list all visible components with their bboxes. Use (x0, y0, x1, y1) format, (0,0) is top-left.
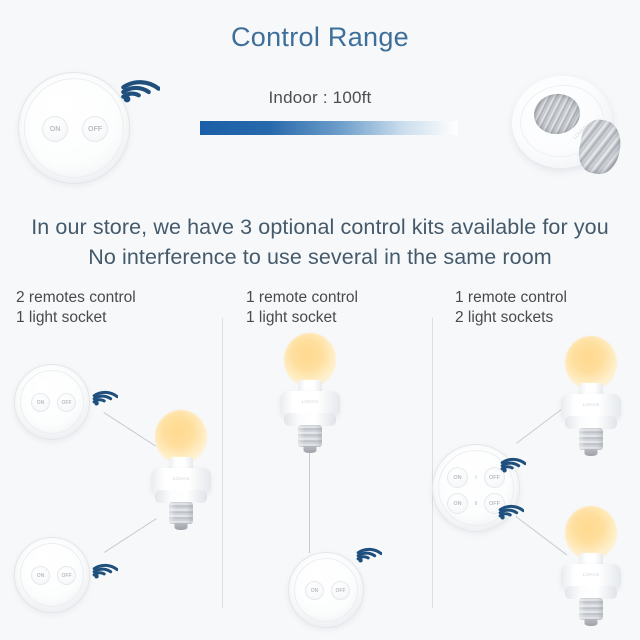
wifi-signal-icon (356, 540, 382, 565)
light-bulb-icon (284, 333, 336, 387)
light-bulb-icon (565, 506, 617, 560)
socket-tip (304, 446, 317, 453)
socket-brand: LOHAS (173, 476, 190, 481)
remote-on-button[interactable]: ON (31, 566, 50, 585)
headline-line-1: In our store, we have 3 optional control… (0, 212, 640, 242)
remote-on-button[interactable]: ON (31, 393, 50, 412)
remote-on-button[interactable]: ON (305, 581, 324, 600)
remote-off-button[interactable]: OFF (82, 116, 108, 142)
light-bulb-socket-unit: LOHAS (553, 506, 629, 638)
light-socket-icon-hero: LOHAS (510, 68, 630, 186)
page-title: Control Range (0, 22, 640, 53)
column-label-3: 1 remote control 2 light sockets (455, 288, 567, 328)
remote-off-button[interactable]: OFF (57, 393, 76, 412)
socket-tip (585, 449, 598, 456)
headline-line-2: No interference to use several in the sa… (0, 242, 640, 272)
column-divider-1 (222, 318, 223, 608)
column1-remote-top[interactable]: ON OFF (14, 364, 90, 440)
remote-off-button[interactable]: OFF (331, 581, 350, 600)
column-divider-2 (432, 318, 433, 608)
light-bulb-socket-unit: LOHAS (553, 336, 629, 468)
wifi-signal-icon (500, 450, 526, 475)
infographic-page: Control Range ON OFF Indoor : 100ft LOHA… (0, 0, 640, 640)
wifi-signal-icon (92, 556, 118, 581)
connector-line (309, 453, 310, 553)
column1-remote-bottom[interactable]: ON OFF (14, 537, 90, 613)
remote-channel-2-label: II (471, 498, 481, 509)
light-bulb-icon (155, 410, 207, 464)
light-bulb-socket-unit: LOHAS (272, 333, 348, 465)
range-gradient-bar (200, 121, 458, 135)
light-bulb-icon (565, 336, 617, 390)
remote-off-button[interactable]: OFF (57, 566, 76, 585)
remote-channel-1-label: I (471, 472, 481, 483)
remote-on-button[interactable]: ON (42, 116, 68, 142)
column-label-1: 2 remotes control 1 light socket (16, 288, 136, 328)
remote-on-button-1[interactable]: ON (447, 467, 468, 488)
light-bulb-socket-unit: LOHAS (143, 410, 219, 542)
socket-brand: LOHAS (583, 572, 600, 577)
socket-brand: LOHAS (302, 399, 319, 404)
socket-tip (585, 619, 598, 626)
socket-brand: LOHAS (583, 402, 600, 407)
socket-screw-base (169, 502, 193, 524)
socket-screw-base (579, 428, 603, 450)
remote-on-button-2[interactable]: ON (447, 493, 468, 514)
socket-screw-base (298, 425, 322, 447)
socket-screw-base (579, 598, 603, 620)
column2-remote[interactable]: ON OFF (288, 552, 364, 628)
headline: In our store, we have 3 optional control… (0, 212, 640, 272)
wifi-signal-icon (92, 383, 118, 408)
socket-tip (175, 523, 188, 530)
column-label-2: 1 remote control 1 light socket (246, 288, 358, 328)
